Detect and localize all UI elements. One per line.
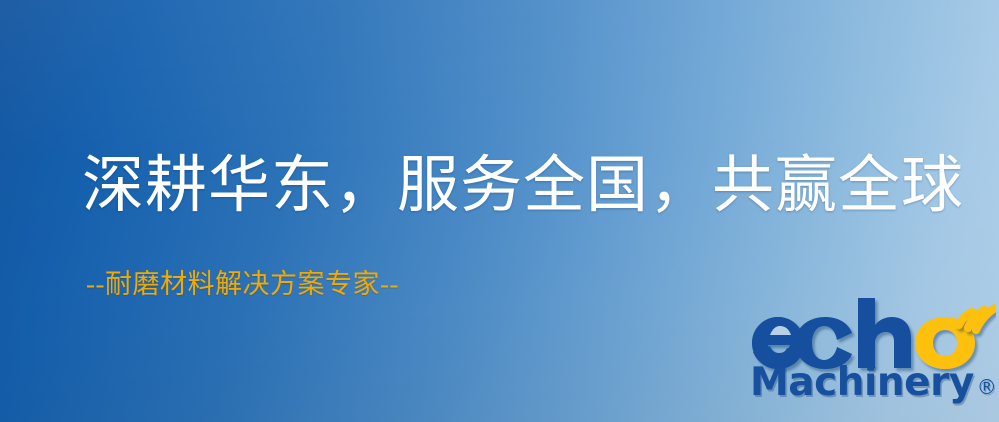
logo-machinery-text: Machinery	[750, 363, 974, 402]
registered-trademark-icon: ®	[977, 377, 997, 397]
banner-subtitle: --耐磨材料解决方案专家--	[86, 267, 399, 301]
logo-subword-row: Machinery ®	[750, 363, 997, 402]
banner-headline: 深耕华东，服务全国，共赢全球	[82, 150, 964, 222]
echo-machinery-logo[interactable]: Machinery ®	[748, 296, 996, 418]
promo-banner: 深耕华东，服务全国，共赢全球 --耐磨材料解决方案专家--	[0, 0, 999, 422]
signal-arcs-icon	[959, 308, 995, 330]
